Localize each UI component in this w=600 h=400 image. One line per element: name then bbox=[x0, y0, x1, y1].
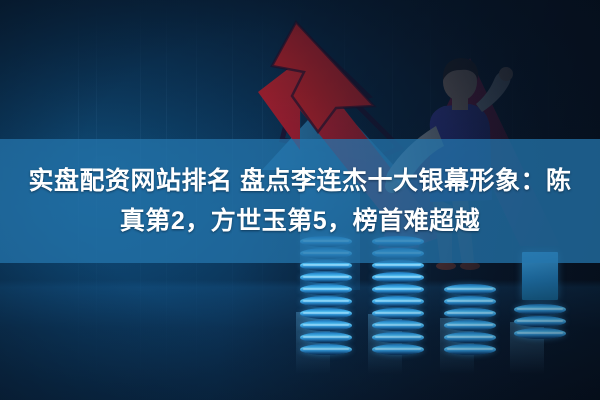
title-line-1: 实盘配资网站排名 盘点李连杰十大银幕形象：陈 bbox=[29, 161, 572, 201]
title-line-2: 真第2，方世玉第5，榜首难超越 bbox=[120, 201, 480, 241]
title-band: 实盘配资网站排名 盘点李连杰十大银幕形象：陈 真第2，方世玉第5，榜首难超越 bbox=[0, 139, 600, 263]
banner-image: 实盘配资网站排名 盘点李连杰十大银幕形象：陈 真第2，方世玉第5，榜首难超越 bbox=[0, 0, 600, 400]
